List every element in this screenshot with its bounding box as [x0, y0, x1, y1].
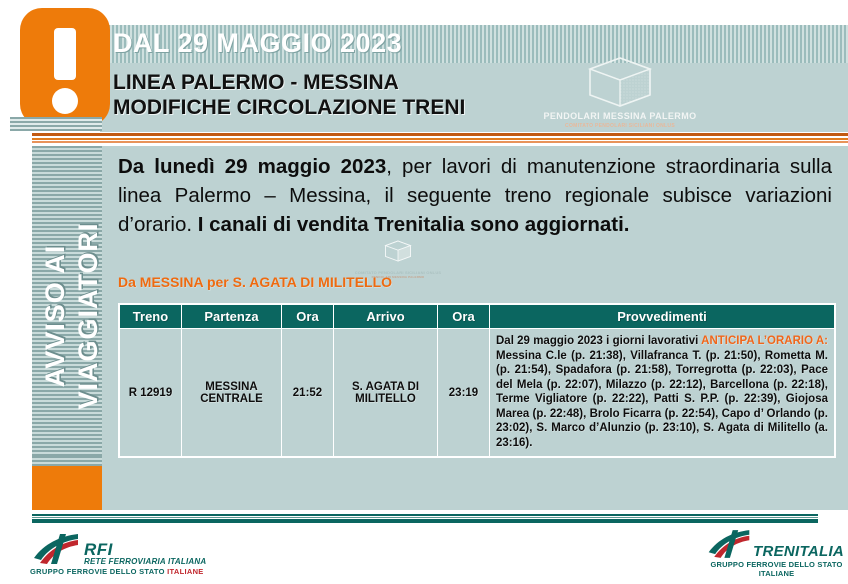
column-header-partenza: Partenza: [182, 305, 282, 329]
footer-divider: [32, 514, 818, 523]
cube-icon: [572, 55, 668, 109]
rfi-logo: RFI RETE FERROVIARIA ITALIANA GRUPPO FER…: [30, 532, 206, 576]
pendolari-logo-sub: COMITATO PENDOLARI SICILIANI ONLUS: [540, 123, 700, 129]
trenitalia-group-line: GRUPPO FERROVIE DELLO STATO ITALIANE: [705, 560, 848, 578]
cell-arrivo: S. AGATA DI MILITELLO: [334, 329, 438, 457]
page-subtitle: MODIFICHE CIRCOLAZIONE TRENI: [113, 95, 465, 120]
prov-highlight: ANTICIPA L’ORARIO A:: [701, 335, 828, 347]
sidebar-label-line2: VIAGGIATORI: [73, 223, 103, 410]
route-heading: Da MESSINA per S. AGATA DI MILITELLO: [118, 274, 392, 290]
notice-page: DAL 29 MAGGIO 2023 LINEA PALERMO - MESSI…: [0, 0, 848, 584]
cell-arrivo-value: S. AGATA DI MILITELLO: [352, 381, 419, 405]
rfi-name: RFI: [84, 541, 206, 558]
notice-lead: Da lunedì 29 maggio 2023: [118, 155, 386, 178]
cell-provvedimenti: Dal 29 maggio 2023 i giorni lavorativi A…: [490, 329, 835, 457]
column-header-arrivo: Arrivo: [334, 305, 438, 329]
page-title: LINEA PALERMO - MESSINA MODIFICHE CIRCOL…: [113, 70, 465, 120]
sidebar-label-line1: AVVISO AI: [40, 245, 70, 388]
watermark-cube-icon: [378, 238, 418, 264]
fs-mark-icon: [30, 532, 82, 566]
column-header-provvedimenti: Provvedimenti: [490, 305, 835, 329]
trenitalia-name: TRENITALIA: [753, 543, 844, 560]
orange-divider: [32, 133, 848, 143]
rfi-group-b: ITALIANE: [167, 567, 203, 576]
rfi-subtitle: RETE FERROVIARIA ITALIANA: [84, 558, 206, 566]
line-title: LINEA PALERMO - MESSINA: [113, 70, 465, 95]
exclamation-icon: [20, 8, 110, 126]
prov-post: Messina C.le (p. 21:38), Villafranca T. …: [496, 350, 828, 449]
sidebar-vertical-label: AVVISO AI VIAGGIATORI: [39, 166, 109, 466]
rfi-group-line: GRUPPO FERROVIE DELLO STATO ITALIANE: [30, 567, 206, 576]
column-header-ora-partenza: Ora: [282, 305, 334, 329]
cell-partenza-value: MESSINA CENTRALE: [200, 381, 263, 405]
cell-ora-partenza: 21:52: [282, 329, 334, 457]
date-banner: DAL 29 MAGGIO 2023: [113, 28, 402, 59]
fs-mark-icon: [705, 528, 753, 560]
pendolari-logo-name: PENDOLARI MESSINA PALERMO: [540, 111, 700, 121]
column-header-ora-arrivo: Ora: [438, 305, 490, 329]
sidebar-striped-bar: AVVISO AI VIAGGIATORI: [32, 146, 102, 456]
table-row: R 12919 MESSINA CENTRALE 21:52 S. AGATA …: [120, 329, 835, 457]
cell-partenza: MESSINA CENTRALE: [182, 329, 282, 457]
sidebar-orange-block: [32, 466, 102, 510]
schedule-table: Treno Partenza Ora Arrivo Ora Provvedime…: [119, 304, 835, 457]
cell-ora-arrivo: 23:19: [438, 329, 490, 457]
trenitalia-logo: TRENITALIA GRUPPO FERROVIE DELLO STATO I…: [705, 528, 848, 578]
sidebar-ticks-top: [10, 117, 102, 131]
notice-emphasis: I canali di vendita Trenitalia sono aggi…: [198, 213, 630, 236]
table-header-row: Treno Partenza Ora Arrivo Ora Provvedime…: [120, 305, 835, 329]
sidebar-ticks-bottom: [32, 456, 102, 466]
exclamation-dot: [52, 88, 78, 114]
schedule-table-wrapper: Treno Partenza Ora Arrivo Ora Provvedime…: [118, 303, 836, 458]
notice-text: Da lunedì 29 maggio 2023, per lavori di …: [118, 152, 832, 239]
cell-treno: R 12919: [120, 329, 182, 457]
exclamation-bar: [54, 28, 76, 80]
column-header-treno: Treno: [120, 305, 182, 329]
rfi-group-a: GRUPPO FERROVIE DELLO STATO: [30, 567, 167, 576]
prov-pre: Dal 29 maggio 2023 i giorni lavorativi: [496, 335, 701, 347]
pendolari-logo: PENDOLARI MESSINA PALERMO COMITATO PENDO…: [540, 55, 700, 135]
